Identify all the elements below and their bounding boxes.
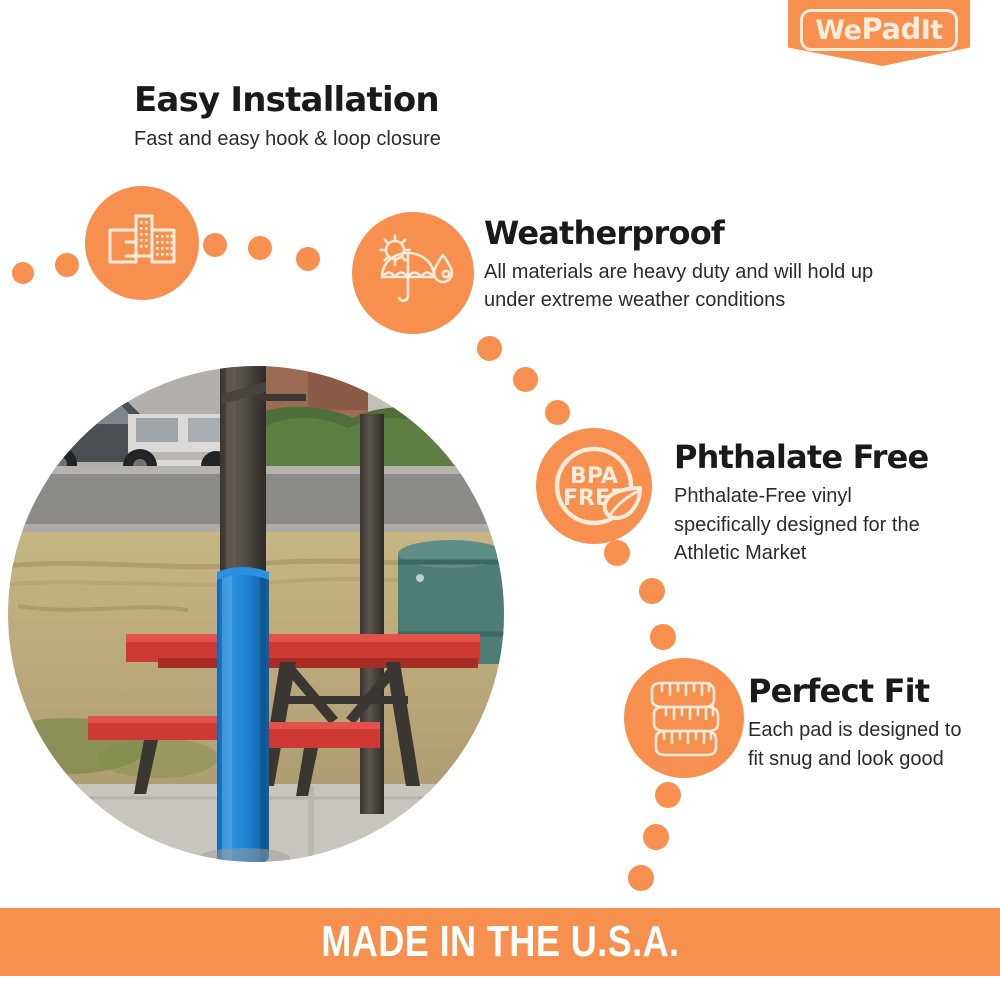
feature-title-phthalate-free: Phthalate Free bbox=[674, 438, 928, 476]
feature-body-weatherproof: All materials are heavy duty and will ho… bbox=[484, 258, 904, 315]
connector-dot bbox=[203, 233, 227, 257]
connector-dot bbox=[604, 540, 630, 566]
connector-dot bbox=[248, 236, 272, 260]
infographic-page: WePadIt Easy Installation Fast and easy … bbox=[0, 0, 1000, 987]
product-photo-illustration bbox=[8, 366, 504, 862]
connector-dot bbox=[513, 367, 538, 392]
connector-dot bbox=[55, 253, 79, 277]
connector-dot bbox=[655, 782, 681, 808]
connector-dot bbox=[545, 400, 570, 425]
icon-circle-easy-installation bbox=[85, 186, 199, 300]
connector-dot bbox=[650, 624, 676, 650]
made-in-usa-text: MADE IN THE U.S.A. bbox=[321, 917, 679, 967]
made-in-usa-banner: MADE IN THE U.S.A. bbox=[0, 908, 1000, 976]
brand-badge-frame: WePadIt bbox=[800, 9, 957, 51]
feature-title-perfect-fit: Perfect Fit bbox=[748, 672, 929, 710]
product-photo bbox=[8, 366, 504, 862]
brand-part-pad: Pad bbox=[861, 12, 920, 46]
feature-title-easy-installation: Easy Installation bbox=[134, 80, 439, 120]
connector-dot bbox=[628, 865, 654, 891]
icon-circle-weatherproof bbox=[352, 212, 474, 334]
feature-body-phthalate-free: Phthalate-Free vinyl specifically design… bbox=[674, 482, 936, 568]
connector-dot bbox=[477, 336, 502, 361]
connector-dot bbox=[643, 824, 669, 850]
brand-part-we: We bbox=[815, 15, 861, 46]
connector-dot bbox=[12, 262, 34, 284]
icon-circle-perfect-fit bbox=[624, 658, 744, 778]
feature-body-easy-installation: Fast and easy hook & loop closure bbox=[134, 126, 554, 154]
feature-body-perfect-fit: Each pad is designed to fit snug and loo… bbox=[748, 716, 973, 773]
brand-name: WePadIt bbox=[815, 15, 942, 46]
umbrella-sun-rain-icon bbox=[370, 233, 456, 313]
bpa-free-leaf-icon: BPA FREE bbox=[544, 436, 644, 536]
measuring-tape-icon bbox=[642, 676, 726, 760]
hook-and-loop-icon bbox=[106, 212, 178, 274]
feature-title-weatherproof: Weatherproof bbox=[484, 214, 724, 252]
connector-dot bbox=[639, 578, 665, 604]
brand-badge: WePadIt bbox=[788, 0, 970, 66]
icon-circle-phthalate-free: BPA FREE bbox=[536, 428, 652, 544]
connector-dot bbox=[296, 247, 320, 271]
brand-part-it: It bbox=[921, 15, 943, 46]
